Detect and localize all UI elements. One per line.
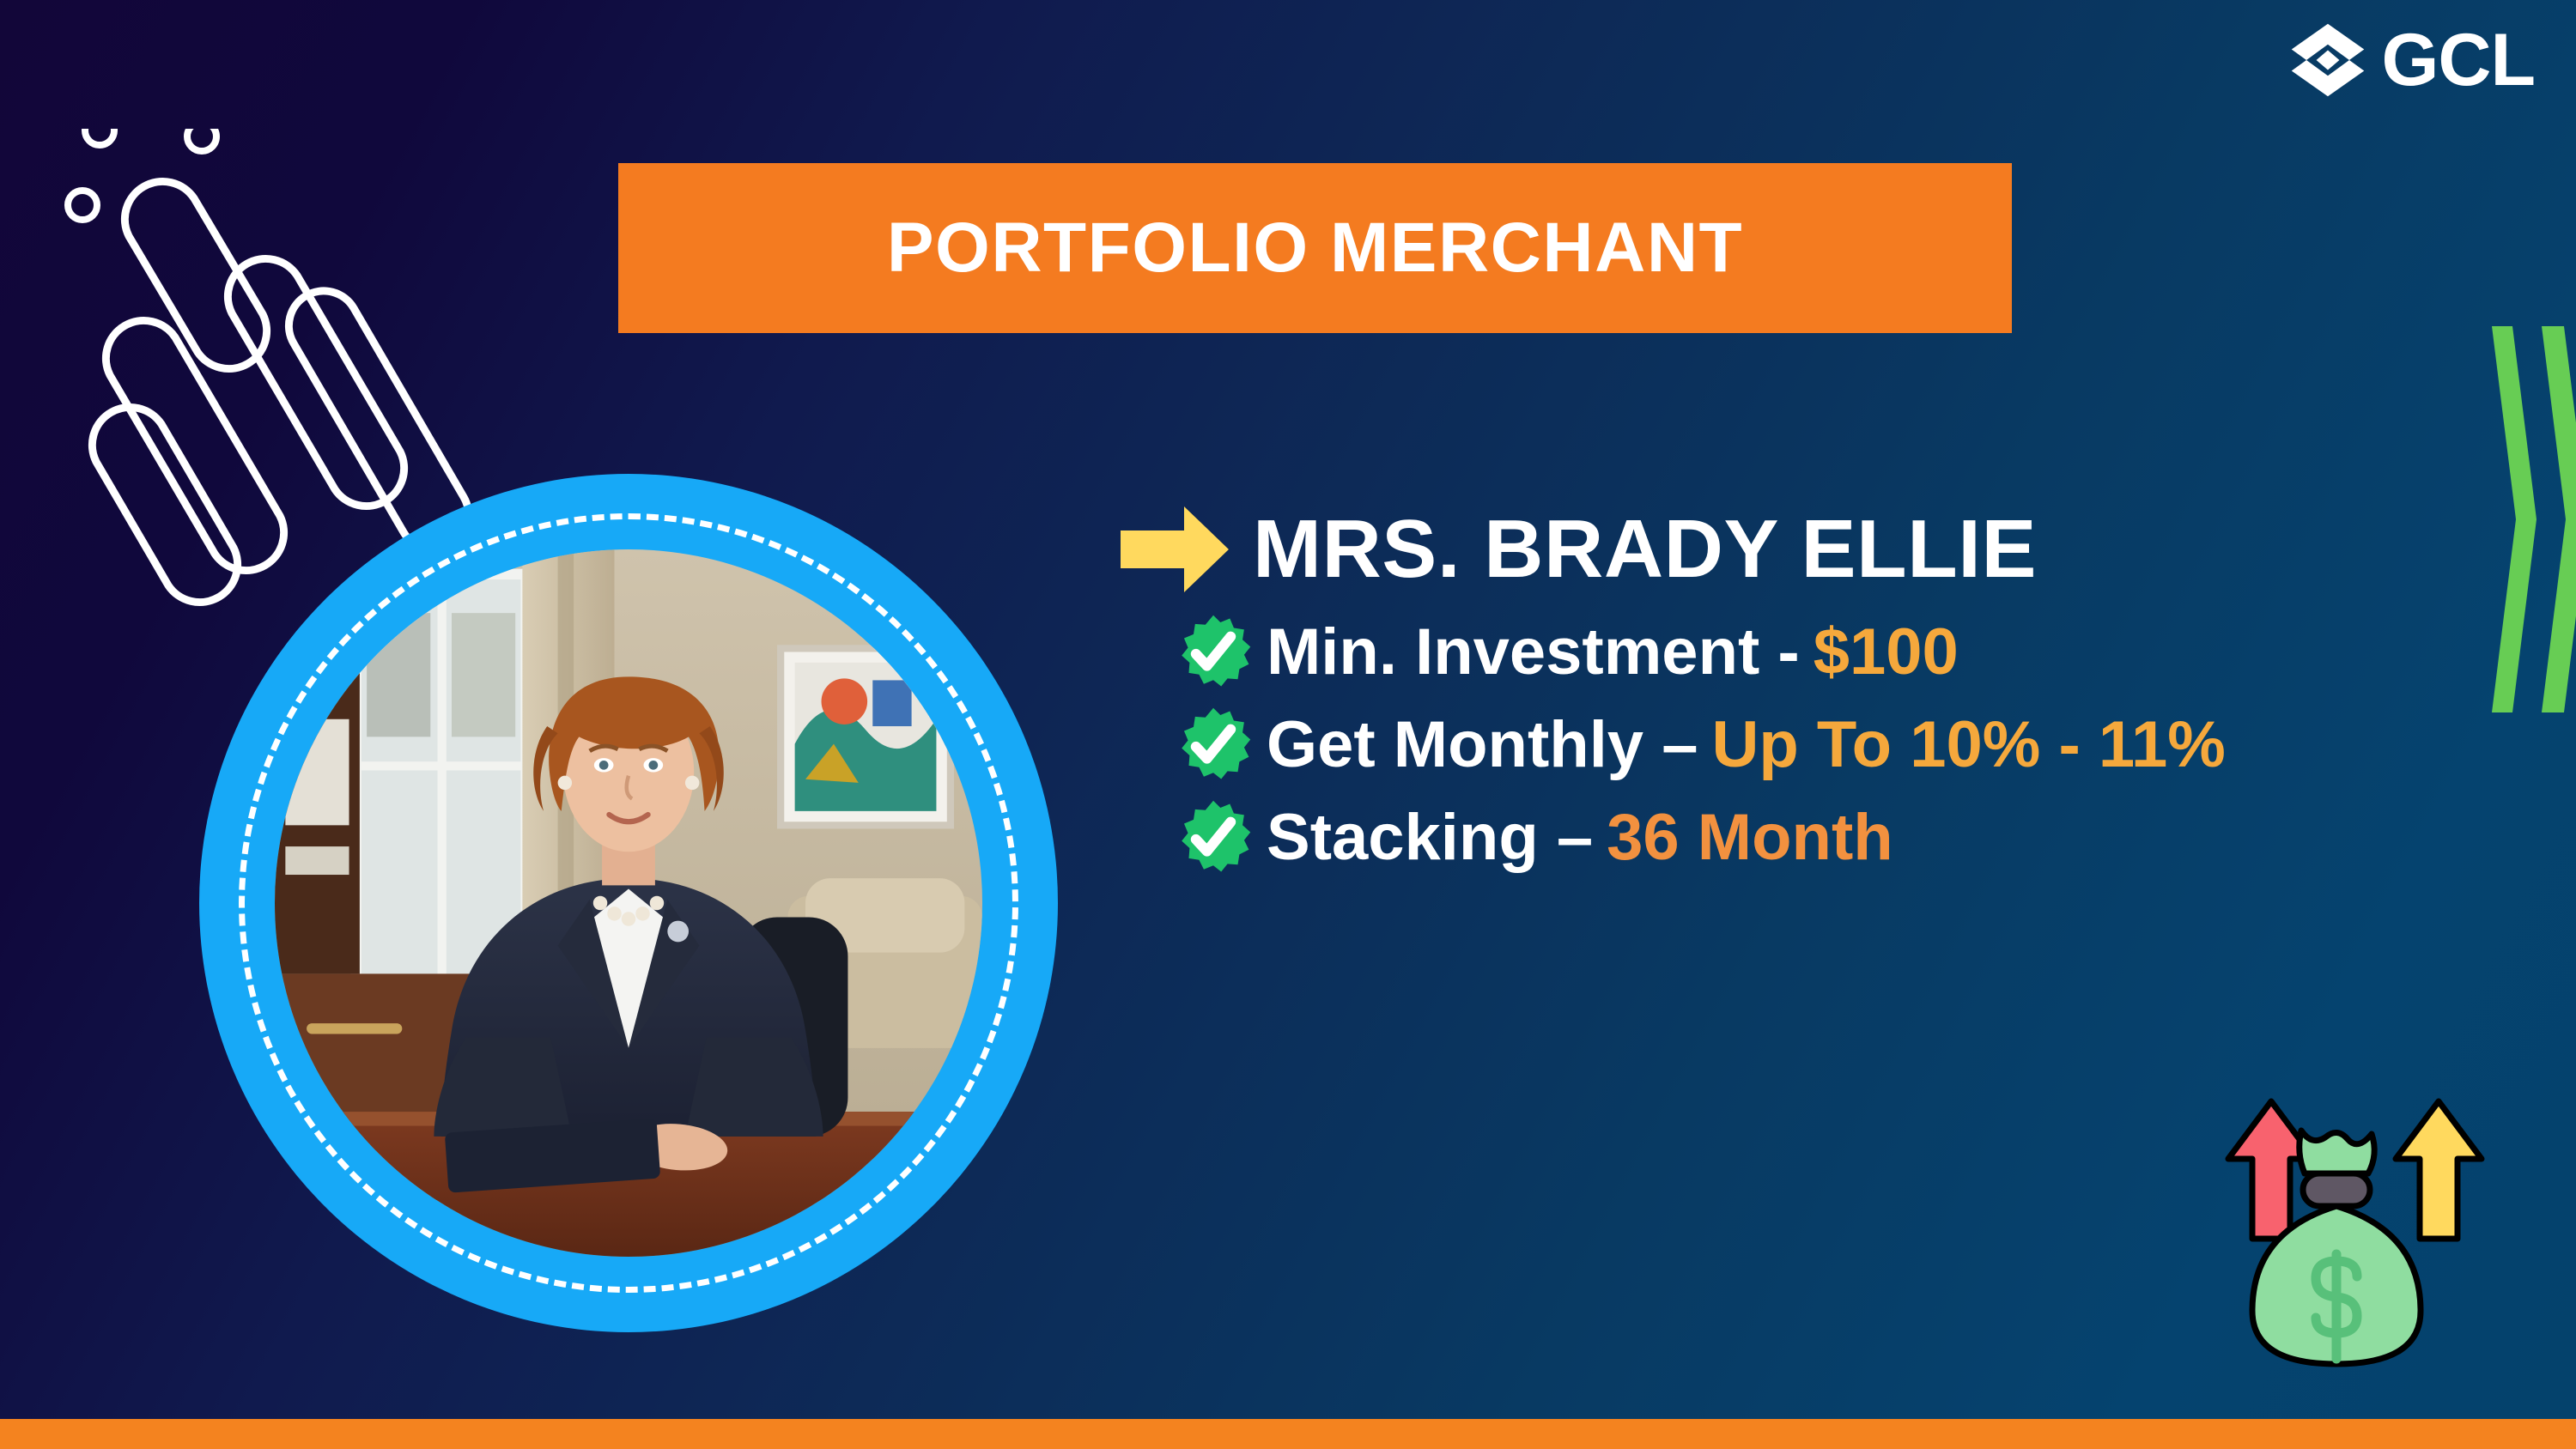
green-check-badge-icon xyxy=(1174,798,1253,877)
title-banner: PORTFOLIO MERCHANT xyxy=(618,163,2012,333)
page-title: PORTFOLIO MERCHANT xyxy=(887,208,1743,288)
portrait-photo-illustration xyxy=(275,549,982,1257)
list-item: Min. Investment - $100 xyxy=(1174,613,2529,692)
list-item: Get Monthly – Up To 10% - 11% xyxy=(1174,706,2529,785)
brand-logo: GCL xyxy=(2287,19,2535,101)
green-check-badge-icon xyxy=(1174,613,1253,692)
list-item-value: Up To 10% - 11% xyxy=(1711,710,2225,780)
green-check-badge-icon xyxy=(1174,706,1253,785)
person-name: MRS. BRADY ELLIE xyxy=(1253,508,2037,591)
list-item-value: 36 Month xyxy=(1607,803,1893,873)
list-item-value: $100 xyxy=(1814,617,1959,688)
avatar xyxy=(275,549,982,1257)
bottom-accent-strip xyxy=(0,1419,2576,1449)
person-name-row: MRS. BRADY ELLIE xyxy=(1121,505,2529,594)
portrait-frame xyxy=(199,474,1058,1332)
list-item: Stacking – 36 Month xyxy=(1174,798,2529,877)
right-arrow-icon xyxy=(1121,505,1230,594)
list-item-label: Min. Investment - xyxy=(1267,617,1800,688)
promo-banner: GCL PORTFOLIO MERCHANT xyxy=(0,0,2576,1449)
details-panel: MRS. BRADY ELLIE Min. Investment - $100 … xyxy=(1121,505,2529,891)
list-item-label: Stacking – xyxy=(1267,803,1593,873)
brand-logo-text: GCL xyxy=(2381,23,2535,97)
gcl-diamond-logo-icon xyxy=(2287,19,2369,101)
list-item-label: Get Monthly – xyxy=(1267,710,1698,780)
money-bag-with-arrows-icon xyxy=(2181,1094,2524,1404)
